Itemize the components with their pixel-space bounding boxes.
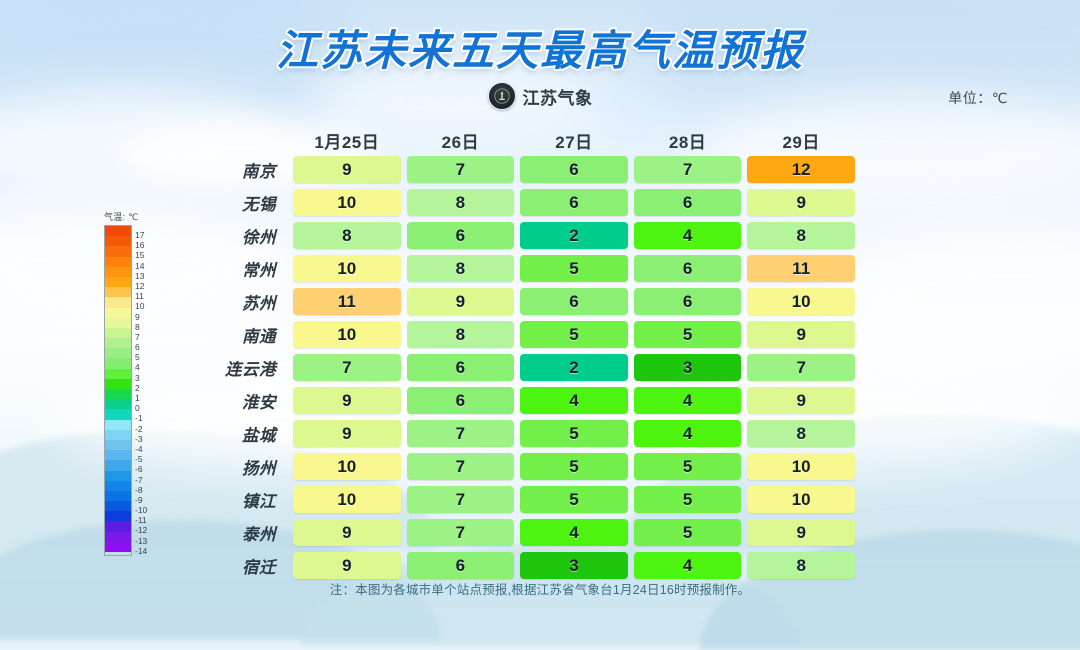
temperature-cell: 10 — [293, 255, 401, 282]
legend-tick-label: -3 — [135, 434, 147, 444]
temperature-cell: 4 — [520, 387, 628, 414]
legend-tick-label: 6 — [135, 342, 147, 352]
table-row: 无锡108669 — [186, 187, 858, 218]
temperature-cell: 8 — [407, 321, 515, 348]
legend-tick-label: 5 — [135, 352, 147, 362]
legend-tick-label: -11 — [135, 515, 147, 525]
brand-name: 江苏气象 — [523, 84, 593, 109]
temperature-cell: 5 — [520, 321, 628, 348]
legend-swatch — [105, 501, 131, 511]
temperature-cell: 9 — [407, 288, 515, 315]
table-row: 徐州86248 — [186, 220, 858, 251]
legend-tick-label: -2 — [135, 424, 147, 434]
legend-swatch — [105, 420, 131, 430]
city-label: 盐城 — [186, 422, 290, 446]
legend-tick-label: -12 — [135, 525, 147, 535]
temperature-cell: 7 — [634, 156, 742, 183]
table-row: 镇江1075510 — [186, 484, 858, 515]
temperature-legend: 气温: ℃ 17161514131211109876543210-1-2-3-4… — [104, 210, 162, 556]
temperature-cell: 7 — [407, 453, 515, 480]
date-column-header-1: 26日 — [404, 128, 518, 153]
temperature-cell: 7 — [407, 486, 515, 513]
legend-swatch — [105, 471, 131, 481]
legend-tick-label: -6 — [135, 464, 147, 474]
temperature-cell: 5 — [520, 255, 628, 282]
legend-swatch — [105, 491, 131, 501]
legend-tick-label: 15 — [135, 250, 147, 260]
legend-tick-label: -13 — [135, 536, 147, 546]
cloud-shape — [820, 230, 1080, 360]
legend-tick-label: -10 — [135, 505, 147, 515]
table-row: 扬州1075510 — [186, 451, 858, 482]
temperature-cell: 11 — [293, 288, 401, 315]
temperature-cell: 9 — [293, 387, 401, 414]
table-row: 苏州1196610 — [186, 286, 858, 317]
legend-swatch — [105, 236, 131, 246]
legend-swatch — [105, 481, 131, 491]
temperature-cell: 10 — [293, 486, 401, 513]
footer-note: 注：本图为各城市单个站点预报,根据江苏省气象台1月24日16时预报制作。 — [0, 579, 1080, 598]
city-label: 南京 — [186, 158, 290, 182]
city-label: 常州 — [186, 257, 290, 281]
temperature-cell: 6 — [407, 354, 515, 381]
temperature-cell: 4 — [634, 387, 742, 414]
table-row: 泰州97459 — [186, 517, 858, 548]
legend-swatch — [105, 318, 131, 328]
temperature-cell: 5 — [520, 486, 628, 513]
temperature-cell: 5 — [634, 519, 742, 546]
legend-swatch — [105, 460, 131, 470]
temperature-cell: 5 — [634, 321, 742, 348]
legend-swatch — [105, 277, 131, 287]
city-label: 南通 — [186, 323, 290, 347]
temperature-cell: 6 — [520, 288, 628, 315]
table-row: 盐城97548 — [186, 418, 858, 449]
header: 江苏未来五天最高气温预报 — [0, 0, 1080, 78]
temperature-cell: 4 — [634, 222, 742, 249]
temperature-cell: 9 — [747, 321, 855, 348]
legend-tick-label: 0 — [135, 403, 147, 413]
date-column-header-0: 1月25日 — [290, 128, 404, 153]
legend-swatch — [105, 379, 131, 389]
legend-tick-label: 14 — [135, 261, 147, 271]
legend-tick-label: 16 — [135, 240, 147, 250]
legend-tick-labels: 17161514131211109876543210-1-2-3-4-5-6-7… — [135, 225, 147, 556]
table-row: 常州1085611 — [186, 253, 858, 284]
legend-tick-label: 7 — [135, 332, 147, 342]
legend-tick-label: -4 — [135, 444, 147, 454]
legend-swatch — [105, 450, 131, 460]
legend-tick-label: -1 — [135, 413, 147, 423]
unit-label: 单位：℃ — [948, 88, 1008, 108]
city-label: 扬州 — [186, 455, 290, 479]
legend-tick-label: 4 — [135, 362, 147, 372]
temperature-cell: 8 — [747, 222, 855, 249]
table-row: 宿迁96348 — [186, 550, 858, 581]
temperature-cell: 8 — [407, 189, 515, 216]
legend-title: 气温: ℃ — [104, 210, 162, 223]
temperature-cell: 6 — [407, 552, 515, 579]
legend-swatch — [105, 226, 131, 236]
temperature-cell: 8 — [747, 552, 855, 579]
legend-swatch — [105, 440, 131, 450]
legend-tick-label: 13 — [135, 271, 147, 281]
temperature-cell: 9 — [293, 519, 401, 546]
legend-swatch — [105, 542, 131, 552]
brand-block: 江苏气象 — [0, 82, 1080, 110]
legend-swatch — [105, 389, 131, 399]
city-label: 宿迁 — [186, 554, 290, 578]
table-row: 南通108559 — [186, 319, 858, 350]
legend-swatch — [105, 521, 131, 531]
page-title: 江苏未来五天最高气温预报 — [0, 0, 1080, 78]
temperature-cell: 2 — [520, 354, 628, 381]
legend-swatch — [105, 257, 131, 267]
temperature-cell: 3 — [520, 552, 628, 579]
table-row: 南京976712 — [186, 154, 858, 185]
temperature-cell: 9 — [747, 387, 855, 414]
legend-swatch — [105, 511, 131, 521]
legend-tick-label: 11 — [135, 291, 147, 301]
legend-tick-label: -8 — [135, 485, 147, 495]
temperature-cell: 8 — [747, 420, 855, 447]
forecast-table: 1月25日26日27日28日29日 南京976712无锡108669徐州8624… — [186, 126, 858, 583]
temperature-cell: 7 — [747, 354, 855, 381]
temperature-cell: 8 — [293, 222, 401, 249]
temperature-cell: 10 — [747, 453, 855, 480]
date-column-header-4: 29日 — [744, 128, 858, 153]
legend-swatch — [105, 308, 131, 318]
temperature-cell: 2 — [520, 222, 628, 249]
table-header-row: 1月25日26日27日28日29日 — [186, 126, 858, 154]
legend-tick-label: 17 — [135, 230, 147, 240]
date-column-header-3: 28日 — [631, 128, 745, 153]
temperature-cell: 9 — [293, 156, 401, 183]
legend-tick-label: 12 — [135, 281, 147, 291]
temperature-cell: 10 — [747, 288, 855, 315]
temperature-cell: 5 — [634, 453, 742, 480]
legend-swatch — [105, 328, 131, 338]
temperature-cell: 6 — [634, 255, 742, 282]
table-row: 连云港76237 — [186, 352, 858, 383]
legend-swatch — [105, 369, 131, 379]
temperature-cell: 4 — [520, 519, 628, 546]
city-label: 连云港 — [186, 356, 290, 380]
legend-swatch — [105, 287, 131, 297]
temperature-cell: 10 — [293, 453, 401, 480]
city-label: 泰州 — [186, 521, 290, 545]
temperature-cell: 8 — [407, 255, 515, 282]
legend-swatch — [105, 338, 131, 348]
temperature-cell: 7 — [407, 156, 515, 183]
temperature-cell: 11 — [747, 255, 855, 282]
legend-tick-label: 9 — [135, 312, 147, 322]
city-label: 苏州 — [186, 290, 290, 314]
legend-swatch — [105, 246, 131, 256]
temperature-cell: 4 — [634, 420, 742, 447]
temperature-cell: 7 — [407, 420, 515, 447]
temperature-cell: 9 — [747, 189, 855, 216]
temperature-cell: 7 — [407, 519, 515, 546]
legend-tick-label: 1 — [135, 393, 147, 403]
legend-swatch — [105, 348, 131, 358]
city-label: 淮安 — [186, 389, 290, 413]
date-column-header-2: 27日 — [517, 128, 631, 153]
temperature-cell: 6 — [407, 222, 515, 249]
temperature-cell: 10 — [747, 486, 855, 513]
temperature-cell: 9 — [747, 519, 855, 546]
temperature-cell: 6 — [634, 288, 742, 315]
city-label: 无锡 — [186, 191, 290, 215]
legend-swatch — [105, 532, 131, 542]
temperature-cell: 10 — [293, 321, 401, 348]
temperature-cell: 7 — [293, 354, 401, 381]
temperature-cell: 5 — [520, 420, 628, 447]
legend-swatch — [105, 430, 131, 440]
temperature-cell: 9 — [293, 420, 401, 447]
legend-swatch — [105, 297, 131, 307]
legend-tick-label: -14 — [135, 546, 147, 556]
legend-colorbar — [104, 225, 132, 556]
table-row: 淮安96449 — [186, 385, 858, 416]
legend-tick-label: 3 — [135, 373, 147, 383]
legend-swatch — [105, 358, 131, 368]
temperature-cell: 6 — [520, 156, 628, 183]
legend-tick-label: -9 — [135, 495, 147, 505]
legend-body: 17161514131211109876543210-1-2-3-4-5-6-7… — [104, 225, 162, 556]
legend-tick-label: 10 — [135, 301, 147, 311]
legend-tick-label: 2 — [135, 383, 147, 393]
temperature-cell: 6 — [634, 189, 742, 216]
temperature-cell: 4 — [634, 552, 742, 579]
weather-bureau-badge-icon — [488, 82, 516, 110]
legend-tick-label: 8 — [135, 322, 147, 332]
temperature-cell: 10 — [293, 189, 401, 216]
city-label: 镇江 — [186, 488, 290, 512]
temperature-cell: 12 — [747, 156, 855, 183]
temperature-cell: 3 — [634, 354, 742, 381]
table-body: 南京976712无锡108669徐州86248常州1085611苏州119661… — [186, 154, 858, 581]
legend-swatch — [105, 267, 131, 277]
temperature-cell: 6 — [520, 189, 628, 216]
legend-tick-label: -5 — [135, 454, 147, 464]
temperature-cell: 5 — [634, 486, 742, 513]
legend-swatch — [105, 409, 131, 419]
city-label: 徐州 — [186, 224, 290, 248]
temperature-cell: 5 — [520, 453, 628, 480]
legend-tick-label: -7 — [135, 475, 147, 485]
temperature-cell: 6 — [407, 387, 515, 414]
legend-swatch — [105, 399, 131, 409]
temperature-cell: 9 — [293, 552, 401, 579]
